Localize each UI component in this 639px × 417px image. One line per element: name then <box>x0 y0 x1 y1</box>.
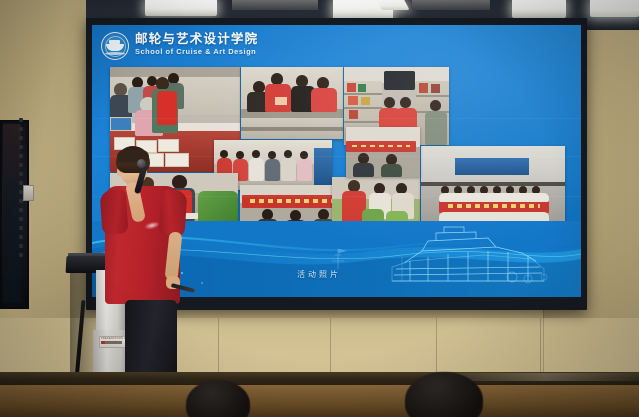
slide-title-group: 邮轮与艺术设计学院 School of Cruise & Art Design <box>135 32 258 57</box>
slide-title-en: School of Cruise & Art Design <box>135 47 258 57</box>
slide-title-cn: 邮轮与艺术设计学院 <box>135 32 258 46</box>
presenter-right-sleeve <box>158 189 187 237</box>
lectern-plate-strip <box>101 341 122 344</box>
ceiling-light-7 <box>590 0 639 17</box>
ceiling-light-4 <box>376 0 409 10</box>
ceiling-light-5 <box>412 0 490 10</box>
wall-control-panel[interactable] <box>23 185 34 201</box>
ceiling-light-6 <box>512 0 566 18</box>
microphone-head[interactable] <box>137 159 146 168</box>
wall-mounted-dark-display <box>0 120 29 309</box>
slide-header: 邮轮与艺术设计学院 School of Cruise & Art Design <box>92 25 581 65</box>
list-item <box>421 146 565 230</box>
ceiling-light-2 <box>232 0 318 10</box>
presentation-room-photo: 邮轮与艺术设计学院 School of Cruise & Art Design <box>0 0 639 417</box>
ceiling-light-1 <box>145 0 217 16</box>
presenter-left-sleeve <box>99 189 128 235</box>
slide-caption: 活动照片 <box>297 269 341 280</box>
list-item <box>346 127 420 177</box>
cruise-ship-seal-icon <box>101 32 129 60</box>
floor <box>0 385 639 417</box>
list-item <box>241 67 343 139</box>
